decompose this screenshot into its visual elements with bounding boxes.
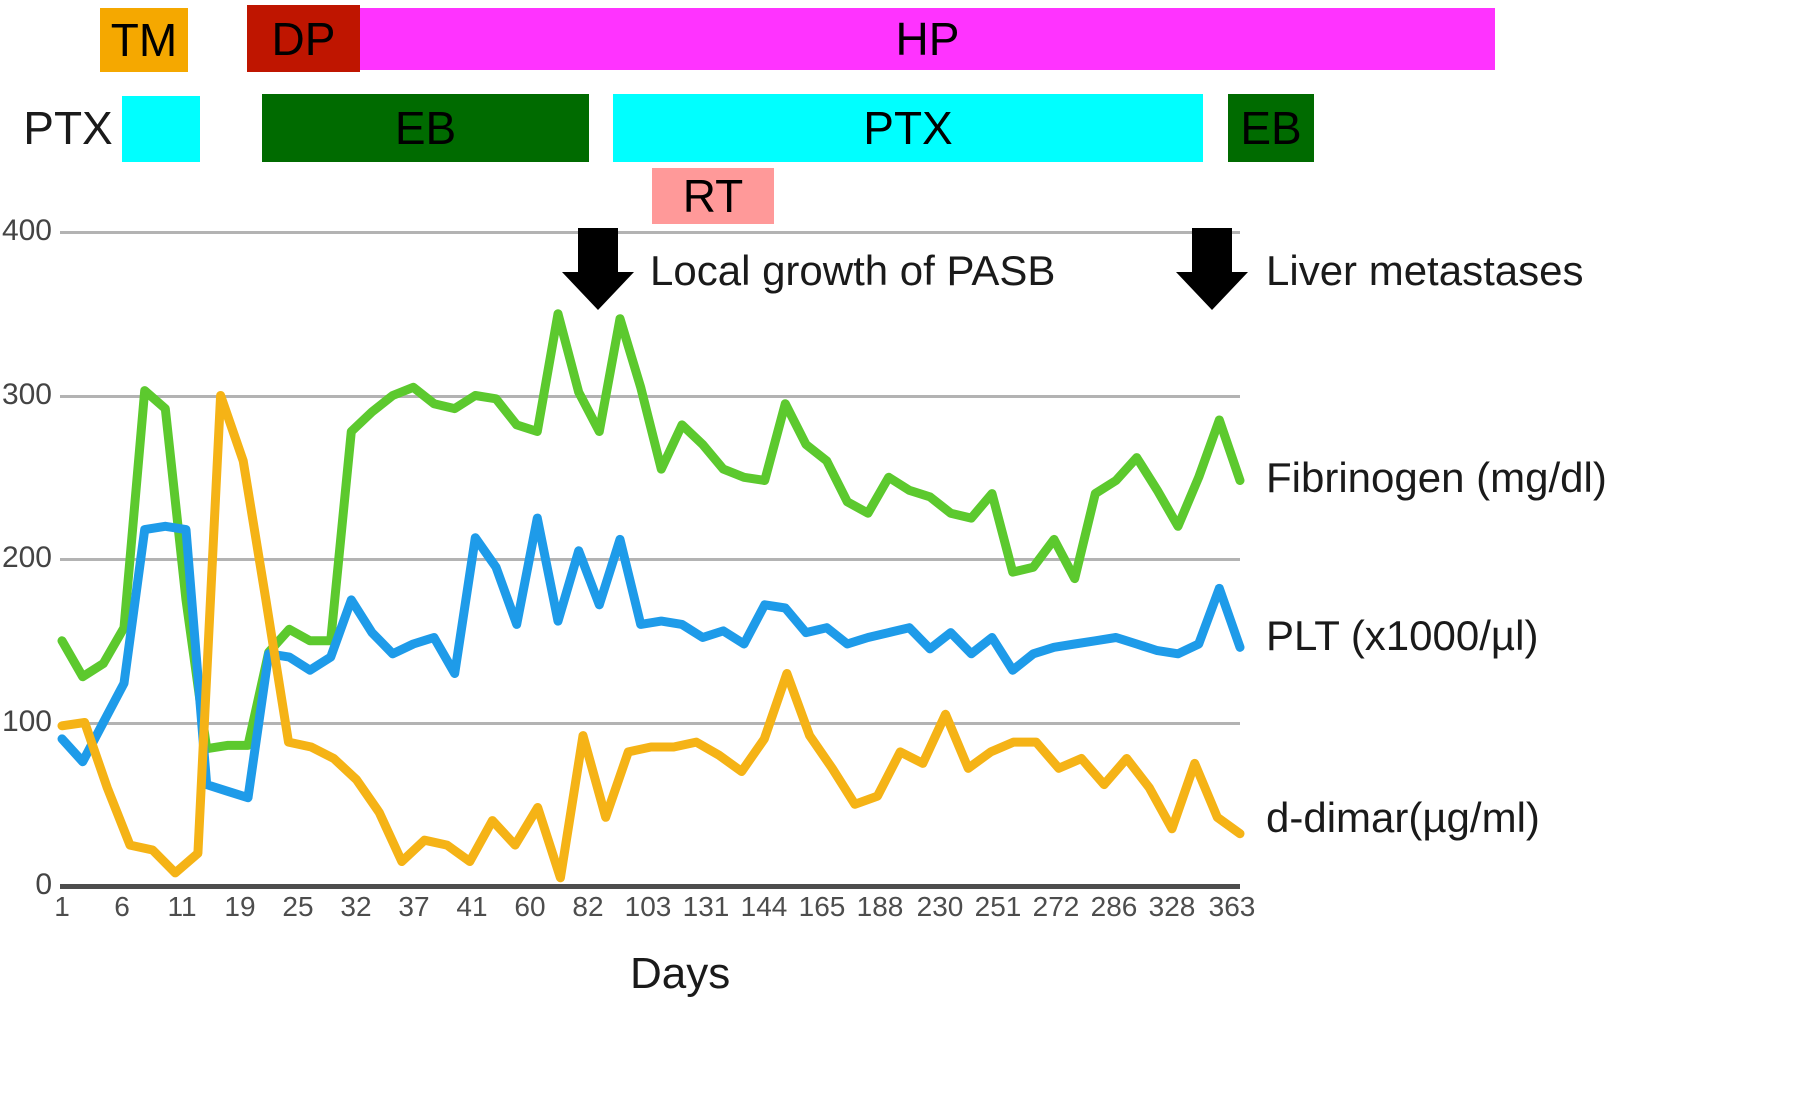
annotation-label-local-growth-of-pasb: Local growth of PASB [650, 250, 1055, 292]
arrow-liver-metastases [1176, 228, 1248, 310]
annotation-arrows [0, 0, 1795, 1116]
arrow-local-growth-of-pasb [562, 228, 634, 310]
ddimar-label: d-dimar(µg/ml) [1266, 797, 1540, 839]
chart-plot-area: 0100200300400 16111925323741608210313114… [0, 0, 1795, 1116]
fibrinogen-label: Fibrinogen (mg/dl) [1266, 457, 1607, 499]
annotation-label-liver-metastases: Liver metastases [1266, 250, 1583, 292]
plt-label: PLT (x1000/µl) [1266, 615, 1538, 657]
x-axis-title: Days [630, 952, 730, 996]
